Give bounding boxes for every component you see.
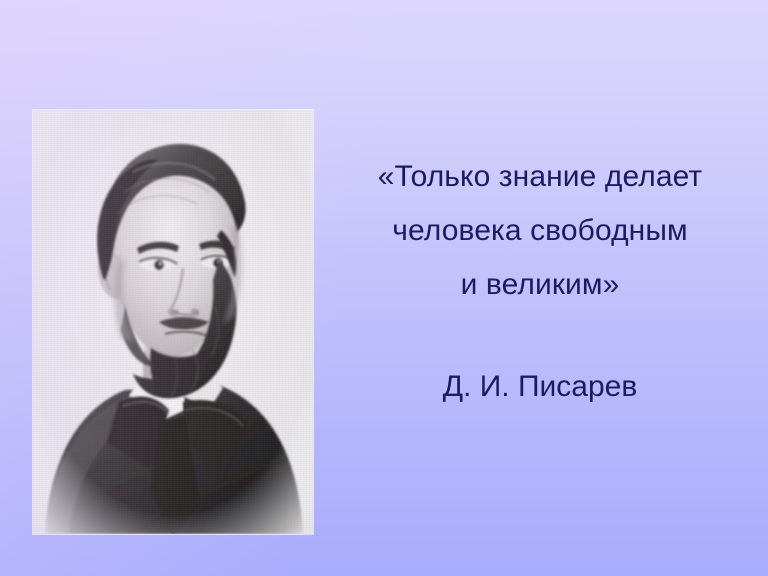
quote-line-2: человека свободным — [340, 204, 740, 258]
quote-attribution: Д. И. Писарев — [340, 365, 740, 409]
quote-line-3: и великим» — [340, 258, 740, 312]
quote-text: «Только знание делает человека свободным… — [340, 150, 740, 312]
portrait-image — [33, 110, 313, 534]
portrait-paper-grain — [33, 110, 313, 534]
slide-canvas: «Только знание делает человека свободным… — [0, 0, 768, 576]
quote-line-1: «Только знание делает — [340, 150, 740, 204]
